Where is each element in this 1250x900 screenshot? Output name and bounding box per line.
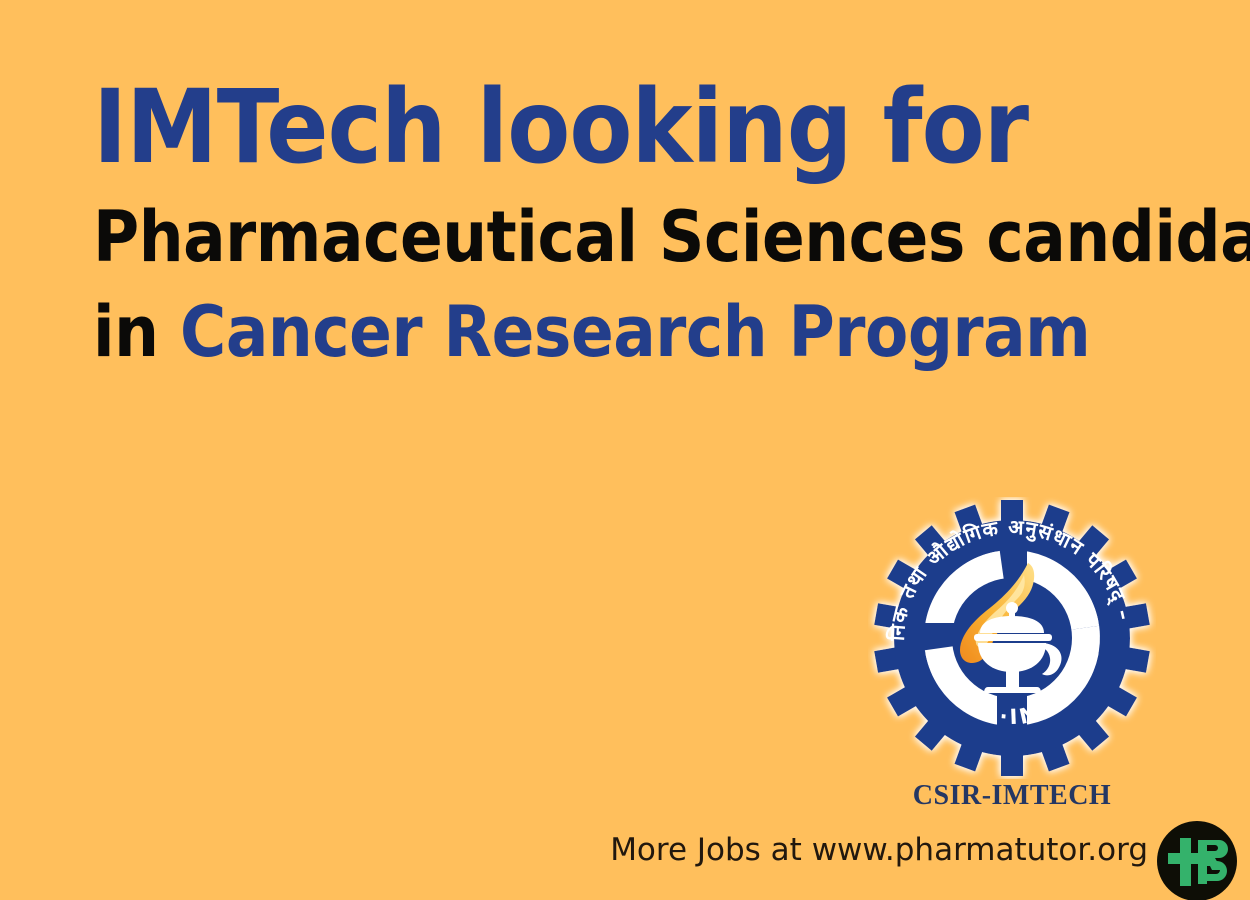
csir-logo: वैज्ञानिक तथा औद्योगिक अनुसंधान परिषद् –… (868, 497, 1156, 779)
poster-canvas: IMTech looking for Pharmaceutical Scienc… (0, 0, 1250, 900)
headline-line-3: in Cancer Research Program (93, 291, 1065, 374)
headline-line-3-highlight: Cancer Research Program (180, 291, 1090, 373)
footer-website-text: More Jobs at www.pharmatutor.org (610, 832, 1148, 868)
headline-line-2: Pharmaceutical Sciences candidates (93, 196, 1065, 279)
csir-imtech-caption: CSIR-IMTECH (868, 780, 1156, 812)
pharmatutor-logo (1156, 820, 1238, 900)
headline-block: IMTech looking for Pharmaceutical Scienc… (93, 78, 1173, 373)
headline-line-3-prefix: in (93, 291, 180, 373)
footer-bar: More Jobs at www.pharmatutor.org (0, 828, 1250, 900)
headline-line-1: IMTech looking for (93, 78, 1065, 178)
